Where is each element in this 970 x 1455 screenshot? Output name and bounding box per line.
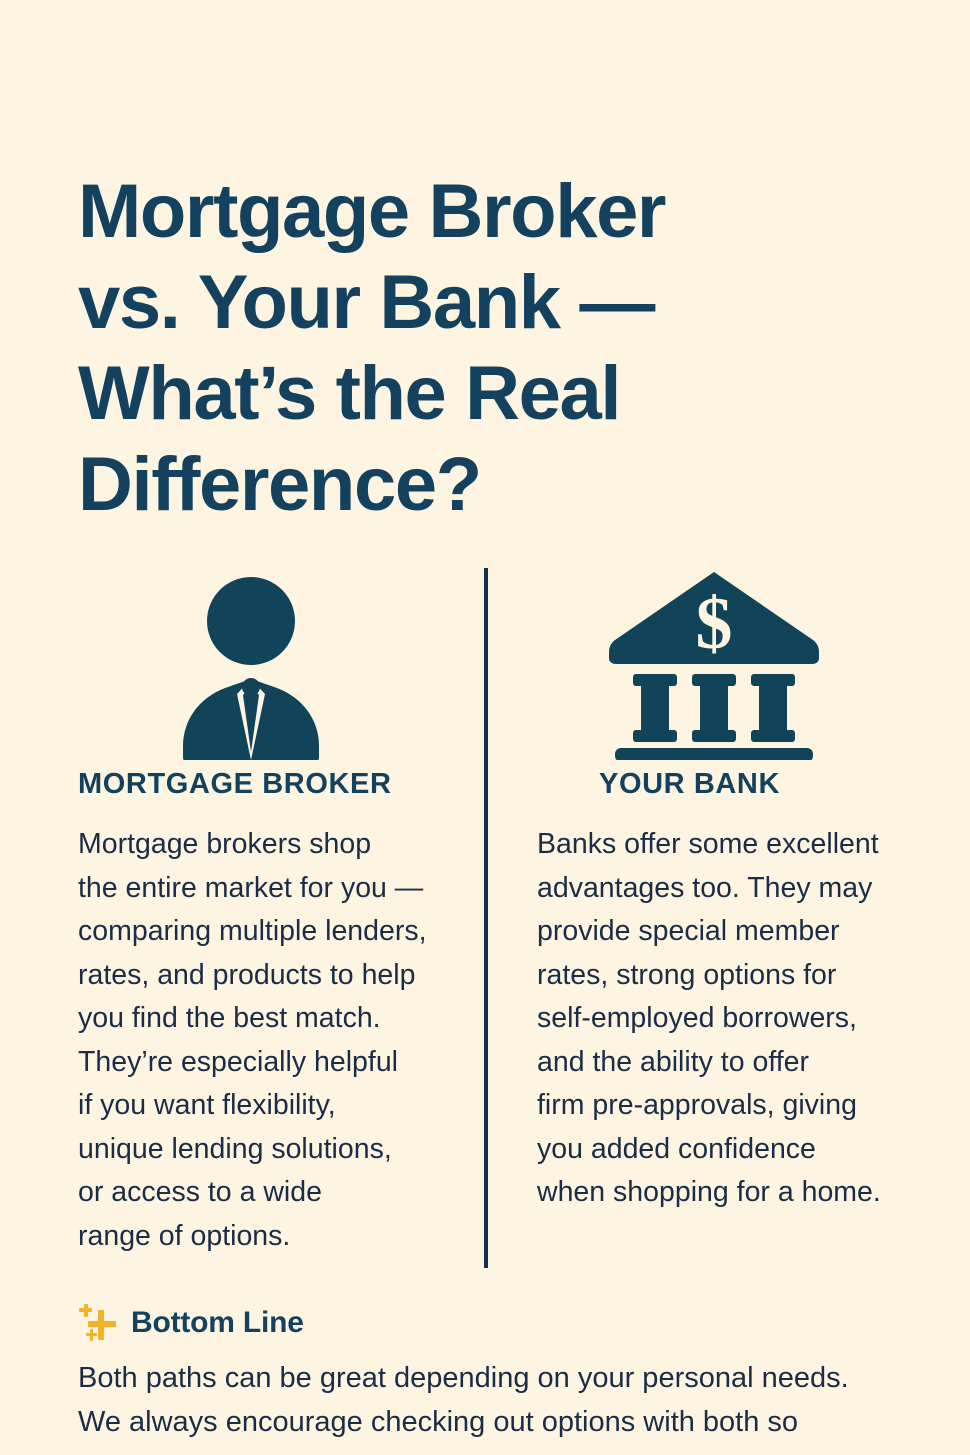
column-your-bank: $ YO — [537, 560, 935, 1215]
column-heading-mortgage-broker: MORTGAGE BROKER — [78, 768, 470, 801]
bottom-line-body: Both paths can be great depending on you… — [78, 1356, 958, 1444]
page-title: Mortgage Broker vs. Your Bank — What’s t… — [78, 166, 778, 530]
column-divider — [484, 568, 488, 1268]
title-block: Mortgage Broker vs. Your Bank — What’s t… — [78, 166, 778, 530]
column-body-your-bank: Banks offer some excellent advantages to… — [537, 823, 935, 1215]
bottom-line-title: Bottom Line — [131, 1306, 304, 1340]
bottom-line-heading: Bottom Line — [78, 1302, 958, 1344]
column-heading-your-bank: YOUR BANK — [537, 768, 935, 801]
businessman-icon — [78, 560, 470, 760]
bottom-line-section: Bottom Line Both paths can be great depe… — [78, 1302, 958, 1444]
column-mortgage-broker: MORTGAGE BROKER Mortgage brokers shop th… — [78, 560, 470, 1258]
column-body-mortgage-broker: Mortgage brokers shop the entire market … — [78, 823, 470, 1258]
svg-text:$: $ — [696, 583, 733, 665]
bank-building-icon: $ — [537, 560, 935, 760]
infographic-poster: Mortgage Broker vs. Your Bank — What’s t… — [0, 0, 970, 1455]
sparkle-icon — [78, 1302, 118, 1344]
comparison-section: MORTGAGE BROKER Mortgage brokers shop th… — [0, 560, 970, 1280]
